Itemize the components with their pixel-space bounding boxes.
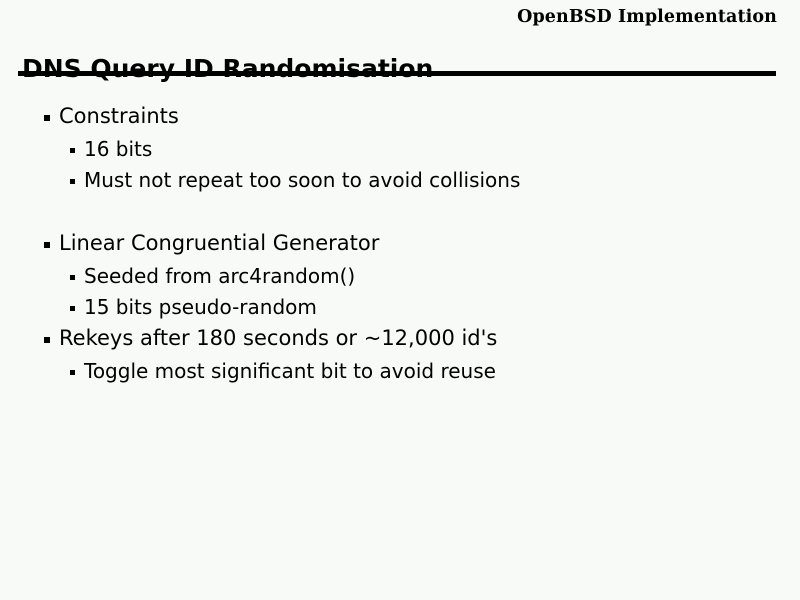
bullet-square-icon — [44, 115, 50, 121]
bullet-square-icon — [70, 306, 75, 311]
bullet-item-label: 15 bits pseudo-random — [84, 294, 317, 320]
bullet-item-label: Linear Congruential Generator — [59, 230, 379, 257]
bullet-item-level-2: 16 bits — [0, 136, 800, 167]
bullet-item-label: Must not repeat too soon to avoid collis… — [84, 167, 520, 193]
bullet-item-label: Toggle most significant bit to avoid reu… — [84, 358, 496, 384]
bullet-item-level-1: Linear Congruential Generator — [0, 230, 800, 263]
presentation-slide: OpenBSD Implementation DNS Query ID Rand… — [0, 0, 800, 600]
bullet-square-icon — [70, 275, 75, 280]
bullet-item-level-2: Toggle most significant bit to avoid reu… — [0, 358, 800, 389]
bullet-square-icon — [70, 370, 75, 375]
title-divider-rule — [18, 71, 776, 76]
slide-title: DNS Query ID Randomisation — [22, 54, 433, 84]
bullet-item-level-2: Seeded from arc4random() — [0, 263, 800, 294]
bullet-item-label: Seeded from arc4random() — [84, 263, 355, 289]
bullet-square-icon — [70, 179, 75, 184]
bullet-item-level-1: Constraints — [0, 103, 800, 136]
bullet-item-level-2: 15 bits pseudo-random — [0, 294, 800, 325]
bullet-item-label: 16 bits — [84, 136, 152, 162]
slide-running-header: OpenBSD Implementation — [517, 7, 777, 27]
bullet-square-icon — [70, 148, 75, 153]
bullet-item-level-1: Rekeys after 180 seconds or ~12,000 id's — [0, 325, 800, 358]
bullet-square-icon — [44, 337, 50, 343]
bullet-square-icon — [44, 242, 50, 248]
slide-bullet-list: Constraints16 bitsMust not repeat too so… — [0, 103, 800, 389]
bullet-item-label: Constraints — [59, 103, 179, 130]
bullet-item-label: Rekeys after 180 seconds or ~12,000 id's — [59, 325, 497, 352]
bullet-item-level-2: Must not repeat too soon to avoid collis… — [0, 167, 800, 198]
